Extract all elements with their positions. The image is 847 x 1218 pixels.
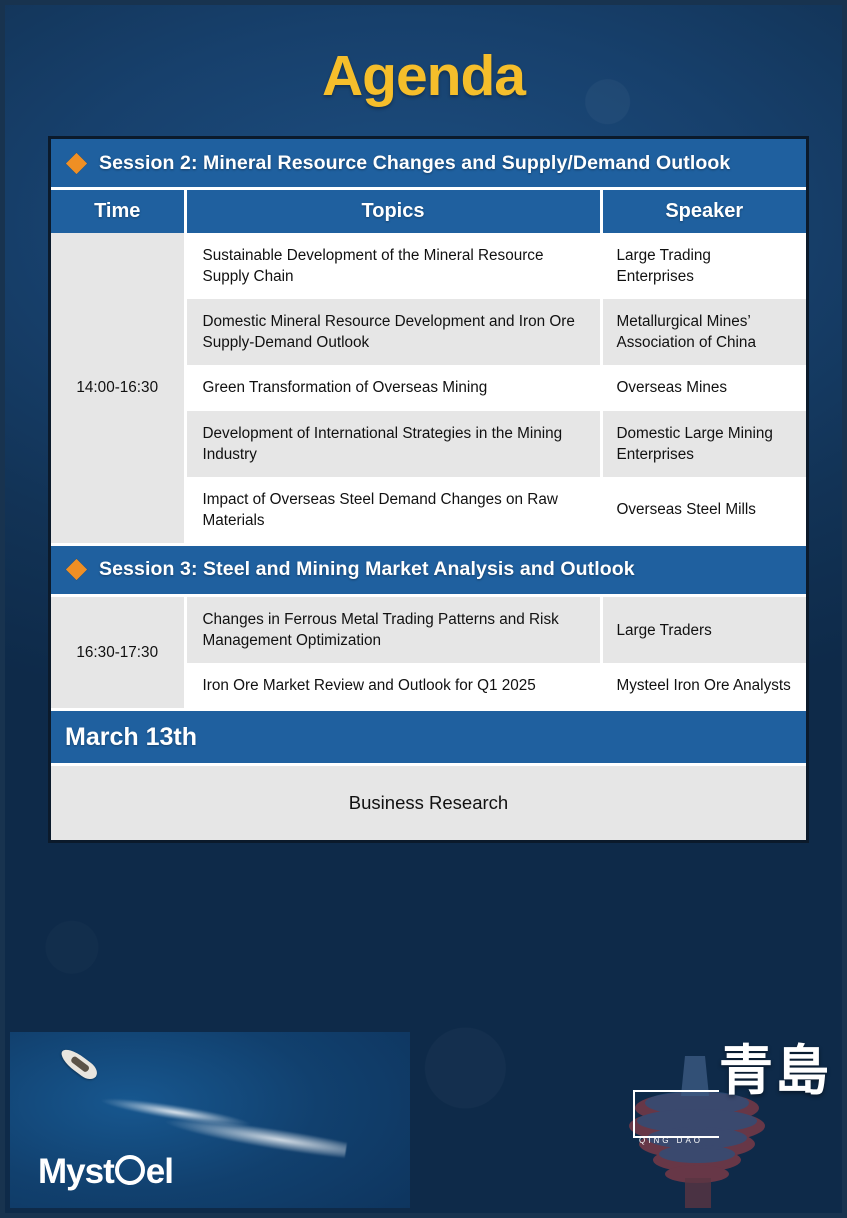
speaker-cell: Mysteel Iron Ore Analysts — [601, 663, 806, 708]
column-header-speaker: Speaker — [601, 190, 806, 233]
qingdao-romanization-box: QING DAO — [633, 1090, 719, 1138]
table-row: 14:00-16:30 Sustainable Development of t… — [51, 233, 806, 299]
speaker-cell: Metallurgical Mines’ Association of Chin… — [601, 299, 806, 365]
mysteel-wordmark-part1: Myst — [38, 1152, 114, 1191]
time-cell-session-3: 16:30-17:30 — [51, 597, 185, 708]
time-cell-session-2: 14:00-16:30 — [51, 233, 185, 543]
topic-cell: Domestic Mineral Resource Development an… — [185, 299, 601, 365]
session-3-table: 16:30-17:30 Changes in Ferrous Metal Tra… — [51, 597, 806, 708]
page-title: Agenda — [5, 43, 842, 109]
session-2-table: Time Topics Speaker 14:00-16:30 Sustaina… — [51, 190, 806, 543]
speaker-cell: Overseas Mines — [601, 365, 806, 410]
table-header-row: Time Topics Speaker — [51, 190, 806, 233]
topic-cell: Green Transformation of Overseas Mining — [185, 365, 601, 410]
topic-cell: Development of International Strategies … — [185, 411, 601, 477]
session-header-2-label: Session 2: Mineral Resource Changes and … — [99, 152, 730, 175]
column-header-topics: Topics — [185, 190, 601, 233]
agenda-slide: Agenda Session 2: Mineral Resource Chang… — [0, 0, 847, 1218]
table-row: 16:30-17:30 Changes in Ferrous Metal Tra… — [51, 597, 806, 663]
mysteel-wordmark: Mystel — [38, 1152, 173, 1192]
topic-cell: Iron Ore Market Review and Outlook for Q… — [185, 663, 601, 708]
diamond-bullet-icon — [66, 559, 87, 580]
column-header-time: Time — [51, 190, 185, 233]
topic-cell: Impact of Overseas Steel Demand Changes … — [185, 477, 601, 543]
session-header-2: Session 2: Mineral Resource Changes and … — [51, 139, 806, 187]
speaker-cell: Domestic Large Mining Enterprises — [601, 411, 806, 477]
diamond-bullet-icon — [66, 152, 87, 173]
closing-item-label: Business Research — [349, 792, 508, 814]
qingdao-logo-panel: QING DAO 青島 — [581, 1038, 837, 1208]
closing-item-row: Business Research — [51, 766, 806, 840]
topic-cell: Sustainable Development of the Mineral R… — [185, 233, 601, 299]
mysteel-wordmark-part2: el — [146, 1152, 173, 1191]
speaker-cell: Large Trading Enterprises — [601, 233, 806, 299]
date-section-label: March 13th — [65, 723, 197, 752]
mysteel-ring-icon — [115, 1155, 145, 1185]
qingdao-romanization-label: QING DAO — [639, 1136, 703, 1145]
date-section-header: March 13th — [51, 711, 806, 763]
speaker-cell: Large Traders — [601, 597, 806, 663]
qingdao-calligraphy-label: 青島 — [719, 1046, 831, 1097]
session-header-3-label: Session 3: Steel and Mining Market Analy… — [99, 558, 635, 581]
mysteel-logo-panel: Mystel — [10, 1032, 410, 1208]
agenda-board: Session 2: Mineral Resource Changes and … — [48, 136, 809, 843]
session-header-3: Session 3: Steel and Mining Market Analy… — [51, 546, 806, 594]
topic-cell: Changes in Ferrous Metal Trading Pattern… — [185, 597, 601, 663]
speaker-cell: Overseas Steel Mills — [601, 477, 806, 543]
